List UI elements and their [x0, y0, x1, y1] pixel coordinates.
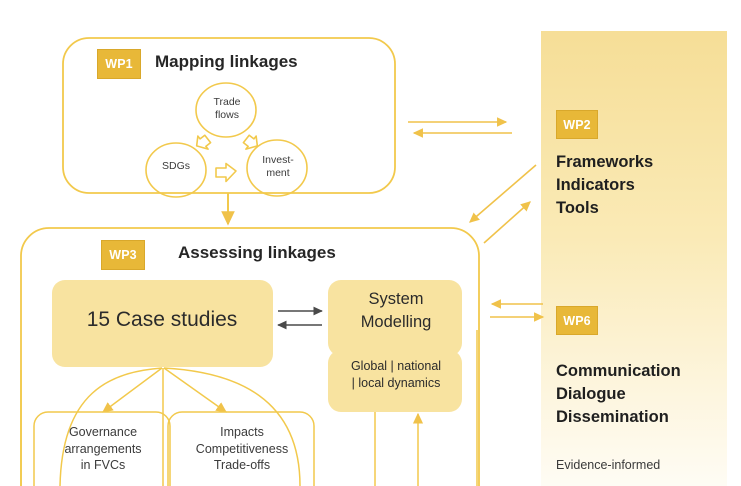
investment-label: Invest- ment	[243, 154, 313, 179]
impacts-label: Impacts Competitiveness Trade-offs	[172, 424, 312, 474]
wp3-title: Assessing linkages	[178, 243, 336, 263]
case-studies-label: 15 Case studies	[52, 308, 272, 332]
wp1-badge[interactable]: WP1	[97, 49, 141, 79]
system-modelling-sublabel: Global | national | local dynamics	[330, 358, 462, 392]
diagram-text-layer: WP1 Mapping linkages Trade flows SDGs In…	[0, 0, 741, 486]
wp6-badge[interactable]: WP6	[556, 306, 598, 335]
wp6-subtext: Evidence-informed	[556, 457, 660, 474]
sdgs-label: SDGs	[141, 160, 211, 173]
wp3-badge[interactable]: WP3	[101, 240, 145, 270]
wp2-badge[interactable]: WP2	[556, 110, 598, 139]
wp6-heading: Communication Dialogue Dissemination	[556, 360, 681, 429]
wp1-title: Mapping linkages	[155, 52, 298, 72]
governance-label: Governance arrangements in FVCs	[42, 424, 164, 474]
wp2-heading: Frameworks Indicators Tools	[556, 151, 653, 220]
diagram-canvas: WP1 Mapping linkages Trade flows SDGs In…	[0, 0, 741, 486]
trade-flows-label: Trade flows	[192, 96, 262, 121]
system-modelling-label: System Modelling	[334, 288, 458, 334]
